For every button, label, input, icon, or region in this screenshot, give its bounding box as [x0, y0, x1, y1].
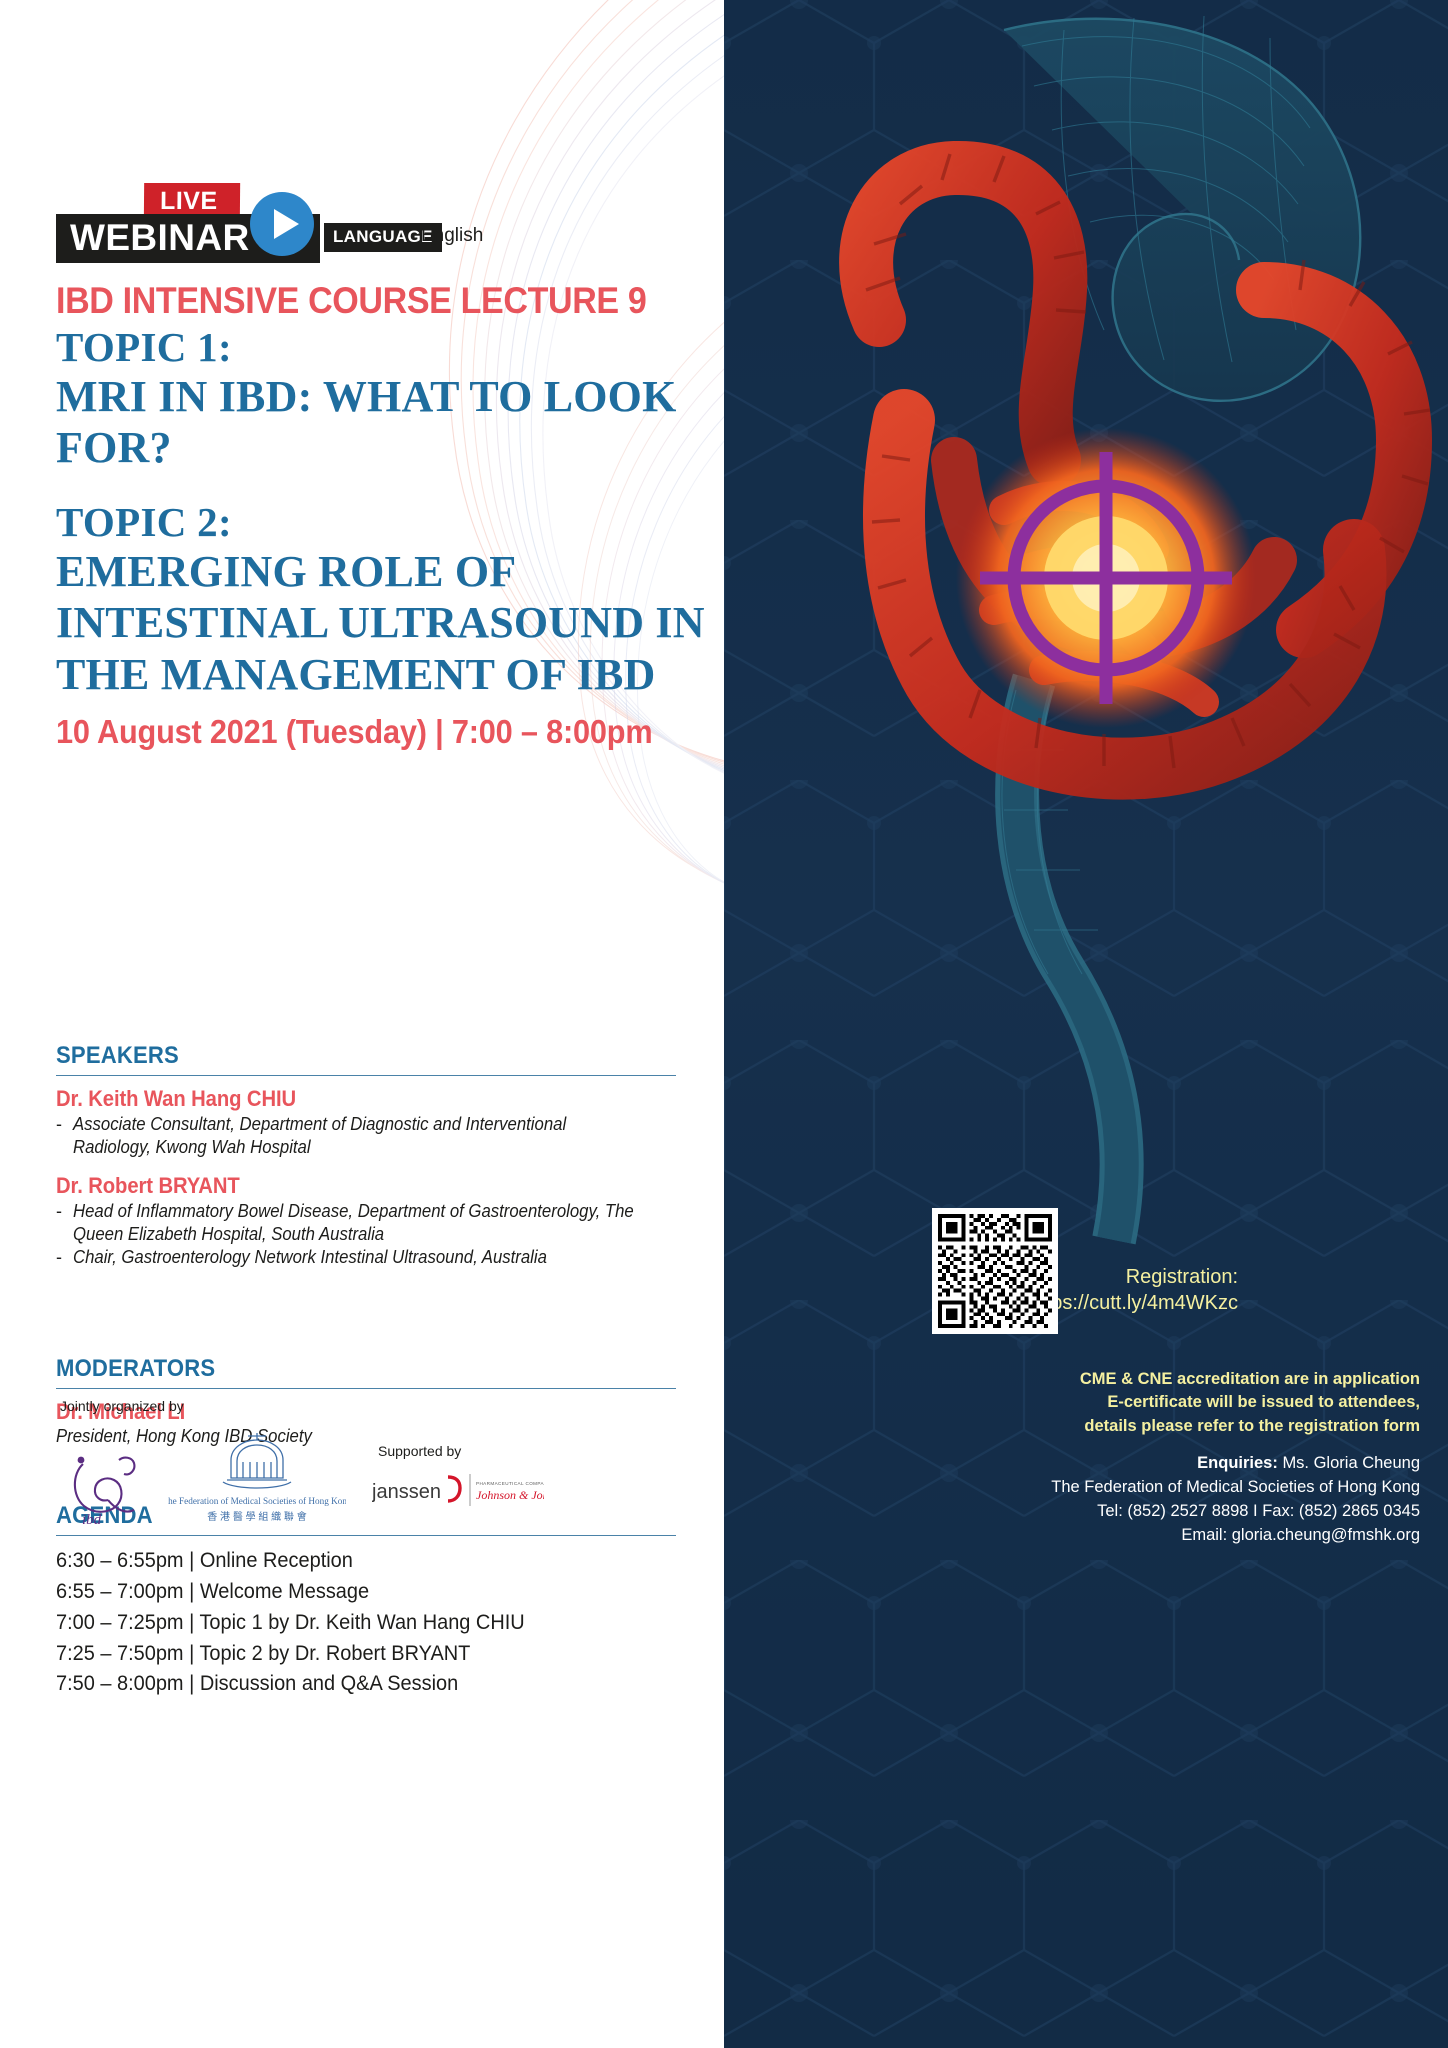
ibd-society-logo: ibd: [62, 1440, 144, 1528]
supported-by-label: Supported by: [378, 1443, 461, 1459]
agenda-item: 7:50 – 8:00pm | Discussion and Q&A Sessi…: [56, 1669, 645, 1700]
janssen-johnson-logo: janssen PHARMACEUTICAL COMPANIES OF John…: [372, 1468, 544, 1512]
speakers-divider: [56, 1075, 676, 1076]
speaker-affiliation: - Chair, Gastroenterology Network Intest…: [56, 1246, 676, 1269]
live-webinar-badge: LIVE WEBINAR LANGUAGE English: [56, 183, 676, 261]
fmshk-name-zh: 香 港 醫 學 組 織 聯 會: [207, 1510, 306, 1523]
contact-email[interactable]: Email: gloria.cheung@fmshk.org: [860, 1524, 1420, 1548]
janssen-wordmark: janssen: [372, 1481, 441, 1503]
enquiries-line: Enquiries: Ms. Gloria Cheung: [860, 1452, 1420, 1476]
language-value: English: [421, 225, 483, 247]
agenda-item: 7:25 – 7:50pm | Topic 2 by Dr. Robert BR…: [56, 1639, 645, 1670]
bullet-dash-icon: -: [56, 1200, 73, 1246]
topic-1-label: TOPIC 1:: [56, 325, 706, 371]
topic-1-block: TOPIC 1: MRI IN IBD: WHAT TO LOOK FOR?: [56, 325, 706, 474]
qr-code-icon: [938, 1214, 1052, 1328]
left-content-column: LIVE WEBINAR LANGUAGE English IBD INTENS…: [0, 0, 724, 2048]
johnson-johnson-wordmark: Johnson & Johnson: [476, 1488, 544, 1502]
fmshk-name-en: The Federation of Medical Societies of H…: [168, 1496, 346, 1506]
speaker-entry: Dr. Keith Wan Hang CHIU - Associate Cons…: [56, 1086, 676, 1159]
speaker-affiliation-text: Chair, Gastroenterology Network Intestin…: [73, 1246, 547, 1269]
note-line-1: CME & CNE accreditation are in applicati…: [860, 1368, 1420, 1391]
contact-organization: The Federation of Medical Societies of H…: [860, 1476, 1420, 1500]
accreditation-notes: CME & CNE accreditation are in applicati…: [860, 1368, 1420, 1438]
jointly-organized-label: Jointly organized by: [60, 1398, 184, 1414]
topic-2-title: EMERGING ROLE OF INTESTINAL ULTRASOUND I…: [56, 546, 716, 700]
janssen-tagline: PHARMACEUTICAL COMPANIES OF: [476, 1481, 544, 1486]
gi-tract-illustration: [724, 0, 1448, 1250]
lecture-series-title: IBD INTENSIVE COURSE LECTURE 9: [56, 280, 645, 322]
speaker-entry: Dr. Robert BRYANT - Head of Inflammatory…: [56, 1173, 676, 1269]
speaker-name: Dr. Keith Wan Hang CHIU: [56, 1086, 626, 1112]
event-datetime: 10 August 2021 (Tuesday) | 7:00 – 8:00pm: [56, 713, 652, 751]
svg-text:ibd: ibd: [82, 1512, 102, 1528]
play-icon: [250, 192, 314, 256]
bullet-dash-icon: -: [56, 1113, 73, 1159]
contact-info: Enquiries: Ms. Gloria Cheung The Federat…: [860, 1452, 1420, 1548]
bullet-dash-icon: -: [56, 1246, 73, 1269]
note-line-3: details please refer to the registration…: [860, 1415, 1420, 1438]
speaker-affiliation-text: Head of Inflammatory Bowel Disease, Depa…: [73, 1200, 634, 1246]
note-line-2: E-certificate will be issued to attendee…: [860, 1391, 1420, 1414]
enquiries-label: Enquiries:: [1197, 1454, 1278, 1472]
webinar-poster: LIVE WEBINAR LANGUAGE English IBD INTENS…: [0, 0, 1448, 2048]
speaker-name: Dr. Robert BRYANT: [56, 1173, 626, 1199]
agenda-item: 7:00 – 7:25pm | Topic 1 by Dr. Keith Wan…: [56, 1608, 645, 1639]
registration-qr-code[interactable]: [932, 1208, 1058, 1334]
speakers-heading: SPEAKERS: [56, 1042, 626, 1070]
enquiries-name: Ms. Gloria Cheung: [1282, 1454, 1420, 1472]
speaker-affiliation: - Associate Consultant, Department of Di…: [56, 1113, 676, 1159]
fmshk-logo: The Federation of Medical Societies of H…: [168, 1432, 346, 1528]
speakers-section: SPEAKERS Dr. Keith Wan Hang CHIU - Assoc…: [56, 1042, 676, 1269]
speaker-affiliation: - Head of Inflammatory Bowel Disease, De…: [56, 1200, 676, 1246]
contact-phone: Tel: (852) 2527 8898 I Fax: (852) 2865 0…: [860, 1500, 1420, 1524]
agenda-item: 6:30 – 6:55pm | Online Reception: [56, 1546, 645, 1577]
agenda-section: AGENDA 6:30 – 6:55pm | Online Reception …: [56, 1502, 676, 1700]
topic-2-block: TOPIC 2: EMERGING ROLE OF INTESTINAL ULT…: [56, 500, 716, 700]
topic-1-title: MRI IN IBD: WHAT TO LOOK FOR?: [56, 371, 706, 474]
right-visual-panel: Registration: https://cutt.ly/4m4WKzc CM…: [724, 0, 1448, 2048]
topic-2-label: TOPIC 2:: [56, 500, 716, 546]
moderators-divider: [56, 1388, 676, 1389]
agenda-item: 6:55 – 7:00pm | Welcome Message: [56, 1577, 645, 1608]
speaker-affiliation-text: Associate Consultant, Department of Diag…: [73, 1113, 634, 1159]
agenda-divider: [56, 1535, 676, 1536]
moderators-heading: MODERATORS: [56, 1355, 626, 1383]
